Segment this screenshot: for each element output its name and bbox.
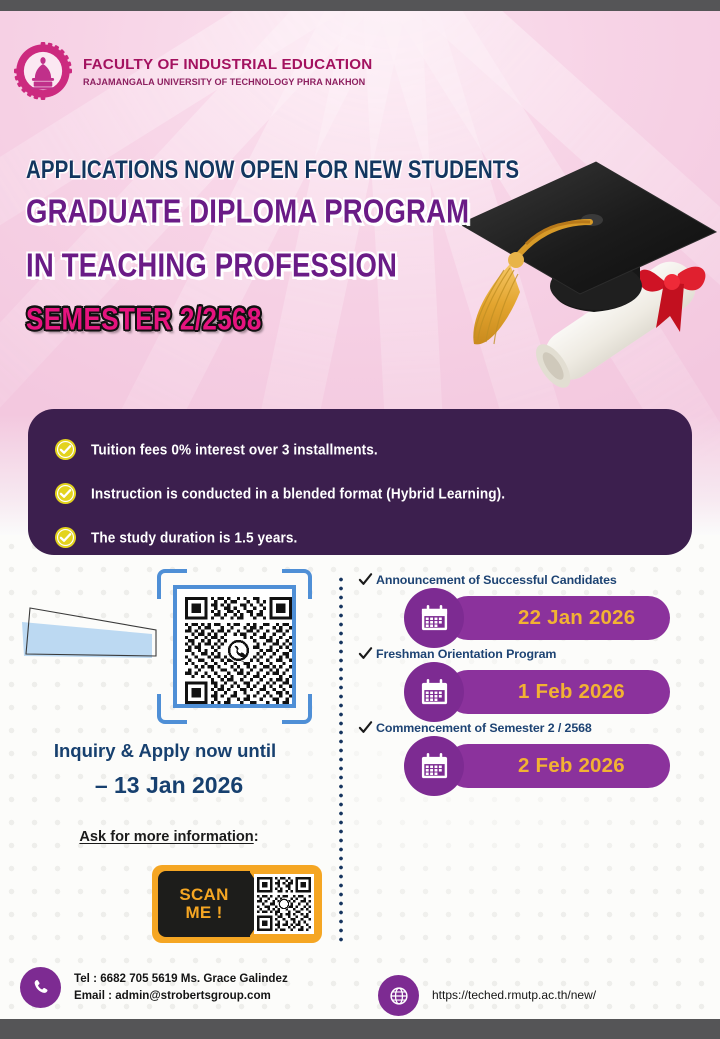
timeline-date-pill: 1 Feb 2026 bbox=[446, 670, 670, 714]
benefit-row: Instruction is conducted in a blended fo… bbox=[28, 471, 692, 515]
checkmark-icon bbox=[358, 720, 373, 735]
checkmark-icon bbox=[358, 646, 373, 661]
email-line: Email : admin@strobertsgroup.com bbox=[74, 988, 288, 1005]
check-circle-icon bbox=[54, 526, 77, 549]
timeline-date-pill: 2 Feb 2026 bbox=[446, 744, 670, 788]
benefit-row: Tuition fees 0% interest over 3 installm… bbox=[28, 427, 692, 471]
inquiry-deadline: – 13 Jan 2026 bbox=[0, 772, 338, 799]
calendar-badge bbox=[404, 662, 464, 722]
vertical-dotted-divider bbox=[339, 575, 343, 942]
timeline-list: Announcement of Successful Candidates bbox=[358, 573, 698, 795]
timeline-label-row: Commencement of Semester 2 / 2568 bbox=[358, 721, 698, 735]
qr-code-box[interactable] bbox=[173, 585, 296, 708]
tel-line: Tel : 6682 705 5619 Ms. Grace Galindez bbox=[74, 971, 288, 988]
benefit-text: Tuition fees 0% interest over 3 installm… bbox=[91, 441, 378, 457]
timeline-date: 2 Feb 2026 bbox=[518, 754, 625, 778]
hero-headings: APPLICATIONS NOW OPEN FOR NEW STUDENTS G… bbox=[26, 156, 519, 331]
scan-me-qr-code[interactable] bbox=[254, 874, 314, 934]
phone-contact-block: Tel : 6682 705 5619 Ms. Grace Galindez E… bbox=[20, 967, 288, 1008]
timeline-label-row: Freshman Orientation Program bbox=[358, 647, 698, 661]
phone-email-text: Tel : 6682 705 5619 Ms. Grace Galindez E… bbox=[74, 971, 288, 1005]
timeline-item: Announcement of Successful Candidates bbox=[358, 573, 698, 640]
scan-me-tag: SCAN ME ! bbox=[158, 871, 250, 937]
inquiry-headline: Inquiry & Apply now until bbox=[0, 740, 330, 762]
calendar-icon bbox=[419, 751, 450, 782]
brand-header: FACULTY OF INDUSTRIAL EDUCATION RAJAMANG… bbox=[14, 42, 372, 100]
scan-word-2: ME ! bbox=[185, 904, 222, 922]
timeline-label: Announcement of Successful Candidates bbox=[376, 573, 617, 587]
scan-me-button[interactable]: SCAN ME ! bbox=[152, 865, 322, 943]
timeline-item: Commencement of Semester 2 / 2568 bbox=[358, 721, 698, 788]
timeline-date: 1 Feb 2026 bbox=[518, 680, 625, 704]
timeline-label: Freshman Orientation Program bbox=[376, 647, 556, 661]
timeline-item: Freshman Orientation Program bbox=[358, 647, 698, 714]
website-url[interactable]: https://teched.rmutp.ac.th/new/ bbox=[432, 987, 596, 1004]
decorative-banner-shape bbox=[18, 604, 160, 662]
benefit-row: The study duration is 1.5 years. bbox=[28, 515, 692, 559]
window-top-bar bbox=[0, 0, 720, 11]
contact-footer: Tel : 6682 705 5619 Ms. Grace Galindez E… bbox=[0, 959, 720, 1019]
benefits-panel: Tuition fees 0% interest over 3 installm… bbox=[28, 409, 692, 555]
hero-line-applications: APPLICATIONS NOW OPEN FOR NEW STUDENTS bbox=[26, 156, 519, 185]
benefit-text: Instruction is conducted in a blended fo… bbox=[91, 485, 505, 501]
calendar-badge bbox=[404, 588, 464, 648]
lower-panel: Inquiry & Apply now until – 13 Jan 2026 … bbox=[0, 535, 720, 1019]
ask-info-label: Ask for more information: bbox=[0, 829, 338, 845]
timeline-date: 22 Jan 2026 bbox=[518, 606, 635, 630]
hero-line-program: GRADUATE DIPLOMA PROGRAM bbox=[26, 192, 519, 231]
hero-line-semester: SEMESTER 2/2568 bbox=[26, 300, 519, 338]
calendar-icon bbox=[419, 603, 450, 634]
check-circle-icon bbox=[54, 438, 77, 461]
calendar-badge bbox=[404, 736, 464, 796]
university-name: RAJAMANGALA UNIVERSITY OF TECHNOLOGY PHR… bbox=[83, 77, 372, 87]
scan-word-1: SCAN bbox=[179, 886, 228, 904]
check-circle-icon bbox=[54, 482, 77, 505]
whatsapp-qr-scanner-frame[interactable] bbox=[157, 569, 312, 724]
scan-me-text: SCAN ME ! bbox=[158, 871, 250, 937]
phone-icon bbox=[20, 967, 61, 1008]
window-bottom-bar bbox=[0, 1019, 720, 1039]
benefit-text: The study duration is 1.5 years. bbox=[91, 529, 297, 545]
hero-line-profession: IN TEACHING PROFESSION bbox=[26, 246, 519, 285]
timeline-date-pill: 22 Jan 2026 bbox=[446, 596, 670, 640]
ask-info-colon: : bbox=[254, 829, 259, 845]
rmutp-seal-emblem-icon bbox=[14, 42, 72, 100]
faculty-name: FACULTY OF INDUSTRIAL EDUCATION bbox=[83, 57, 372, 74]
globe-icon bbox=[378, 975, 419, 1016]
checkmark-icon bbox=[358, 572, 373, 587]
poster-canvas: FACULTY OF INDUSTRIAL EDUCATION RAJAMANG… bbox=[0, 11, 720, 1019]
calendar-icon bbox=[419, 677, 450, 708]
ask-info-underlined: Ask for more information bbox=[79, 829, 253, 845]
timeline-label: Commencement of Semester 2 / 2568 bbox=[376, 721, 592, 735]
website-contact-block[interactable]: https://teched.rmutp.ac.th/new/ bbox=[378, 975, 596, 1016]
qr-code-image[interactable] bbox=[185, 597, 292, 704]
timeline-label-row: Announcement of Successful Candidates bbox=[358, 573, 698, 587]
